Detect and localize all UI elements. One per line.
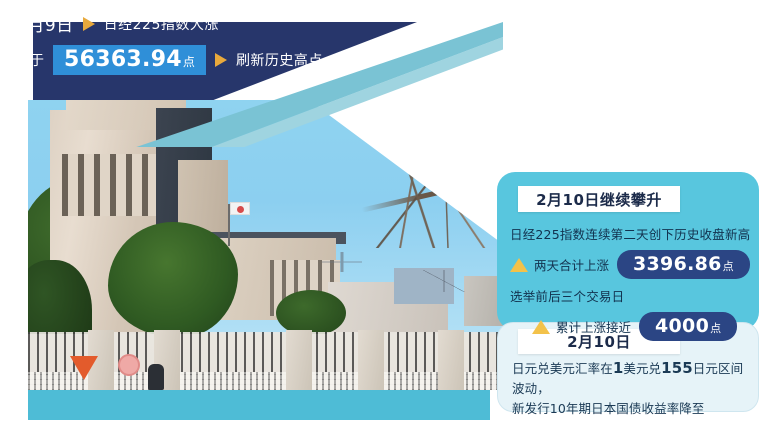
panel-top-subnote: 选举前后三个交易日 xyxy=(510,286,752,305)
banner-date: 2月9日 xyxy=(16,11,74,36)
triangle-up-icon xyxy=(510,258,528,272)
data-row-value: 4000 xyxy=(655,315,709,337)
person-silhouette xyxy=(148,364,164,390)
panel-top-badge: 2月10日继续攀升 xyxy=(518,186,680,212)
fence-pillar xyxy=(358,330,384,390)
round-sign-icon xyxy=(118,354,140,376)
data-row-cumulative-gain: 累计上涨接近 4000 点 xyxy=(510,312,752,341)
data-row-two-day-gain: 两天合计上涨 3396.86 点 xyxy=(510,250,752,279)
bond-text-a: 新发行10年期日本国债收益率降至 xyxy=(512,401,705,416)
value-pill: 3396.86 点 xyxy=(617,250,750,279)
bare-branches xyxy=(332,128,502,248)
fx-text-a: 日元兑美元汇率在 xyxy=(512,361,613,376)
header-line-1: 2月9日 日经225指数大涨 xyxy=(16,11,323,36)
warning-triangle-sign-icon xyxy=(70,356,98,380)
data-row-value: 3396.86 xyxy=(633,253,722,275)
banner-note: 刷新历史高点 xyxy=(236,50,323,70)
triangle-up-icon xyxy=(532,320,550,334)
triangle-right-icon xyxy=(215,53,227,67)
antenna-icon xyxy=(418,270,470,292)
header-banner-content: 2月9日 日经225指数大涨 收于 56363.94 点 刷新历史高点 xyxy=(16,11,323,75)
data-row-label: 两天合计上涨 xyxy=(534,255,609,274)
fx-jpy-rate: 155 xyxy=(661,359,693,377)
data-row-unit: 点 xyxy=(723,258,734,274)
diet-building-photo xyxy=(28,100,512,390)
japan-flag-icon xyxy=(230,202,250,215)
fx-usd-amount: 1 xyxy=(613,359,624,377)
close-value: 56363.94 xyxy=(64,47,182,72)
panel-top-description: 日经225指数连续第二天创下历史收盘新高 xyxy=(510,224,752,243)
banner-headline: 日经225指数大涨 xyxy=(104,14,219,34)
close-unit: 点 xyxy=(183,53,195,70)
fx-text-c: 美元兑 xyxy=(623,361,661,376)
photo-sky xyxy=(28,100,512,390)
close-label: 收于 xyxy=(16,50,44,70)
utility-pole-icon xyxy=(322,252,362,272)
value-pill: 4000 点 xyxy=(639,312,737,341)
fence-pillar xyxy=(286,330,312,390)
footer-accent-bar xyxy=(28,390,490,420)
header-line-2: 收于 56363.94 点 刷新历史高点 xyxy=(16,45,323,75)
data-row-unit: 点 xyxy=(710,320,721,336)
data-row-label: 累计上涨接近 xyxy=(556,317,631,336)
close-value-chip: 56363.94 点 xyxy=(53,45,206,75)
infographic-canvas: 2月9日 日经225指数大涨 收于 56363.94 点 刷新历史高点 2月10… xyxy=(0,0,768,422)
tree-center xyxy=(108,222,238,338)
fx-line-2: 新发行10年期日本国债收益率降至2.235% xyxy=(512,399,752,422)
panel-bottom-body: 日元兑美元汇率在1美元兑155日元区间波动， 新发行10年期日本国债收益率降至2… xyxy=(512,358,752,422)
triangle-right-icon xyxy=(83,17,95,31)
fence-pillar xyxy=(438,330,464,390)
panel-top-body: 日经225指数连续第二天创下历史收盘新高 两天合计上涨 3396.86 点 选举… xyxy=(510,224,752,348)
fx-line-1: 日元兑美元汇率在1美元兑155日元区间波动， xyxy=(512,358,752,399)
